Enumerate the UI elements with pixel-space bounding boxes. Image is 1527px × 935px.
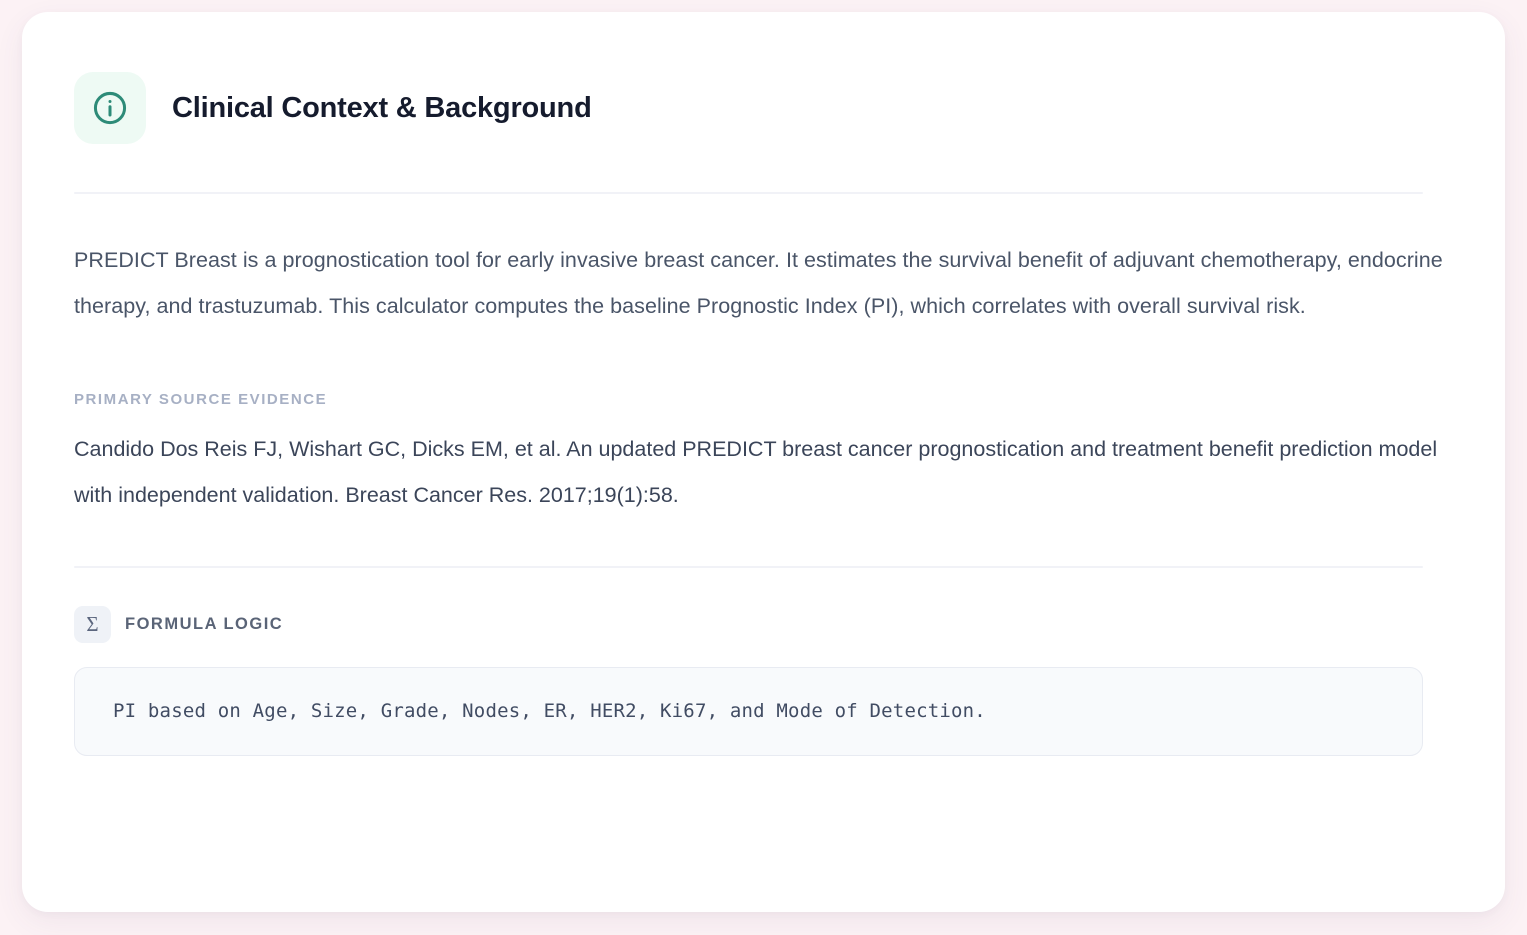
formula-logic-section: Σ FORMULA LOGIC PI based on Age, Size, G… <box>74 606 1453 812</box>
description-text: PREDICT Breast is a prognostication tool… <box>74 237 1453 329</box>
header-divider <box>74 192 1423 194</box>
formula-code-box: PI based on Age, Size, Grade, Nodes, ER,… <box>74 667 1423 756</box>
card-content: Clinical Context & Background PREDICT Br… <box>22 12 1505 812</box>
sigma-icon: Σ <box>74 606 111 643</box>
info-circle-icon <box>74 72 146 144</box>
primary-source-evidence-section: PRIMARY SOURCE EVIDENCE Candido Dos Reis… <box>74 391 1453 518</box>
evidence-section-label: PRIMARY SOURCE EVIDENCE <box>74 391 1453 408</box>
formula-code-text: PI based on Age, Size, Grade, Nodes, ER,… <box>113 698 1384 725</box>
clinical-context-card: Clinical Context & Background PREDICT Br… <box>22 12 1505 912</box>
formula-logic-header: Σ FORMULA LOGIC <box>74 606 1453 643</box>
card-header: Clinical Context & Background <box>74 72 1453 144</box>
formula-section-label: FORMULA LOGIC <box>125 615 283 634</box>
evidence-divider <box>74 566 1423 568</box>
evidence-citation: Candido Dos Reis FJ, Wishart GC, Dicks E… <box>74 426 1453 518</box>
page-title: Clinical Context & Background <box>172 91 592 126</box>
